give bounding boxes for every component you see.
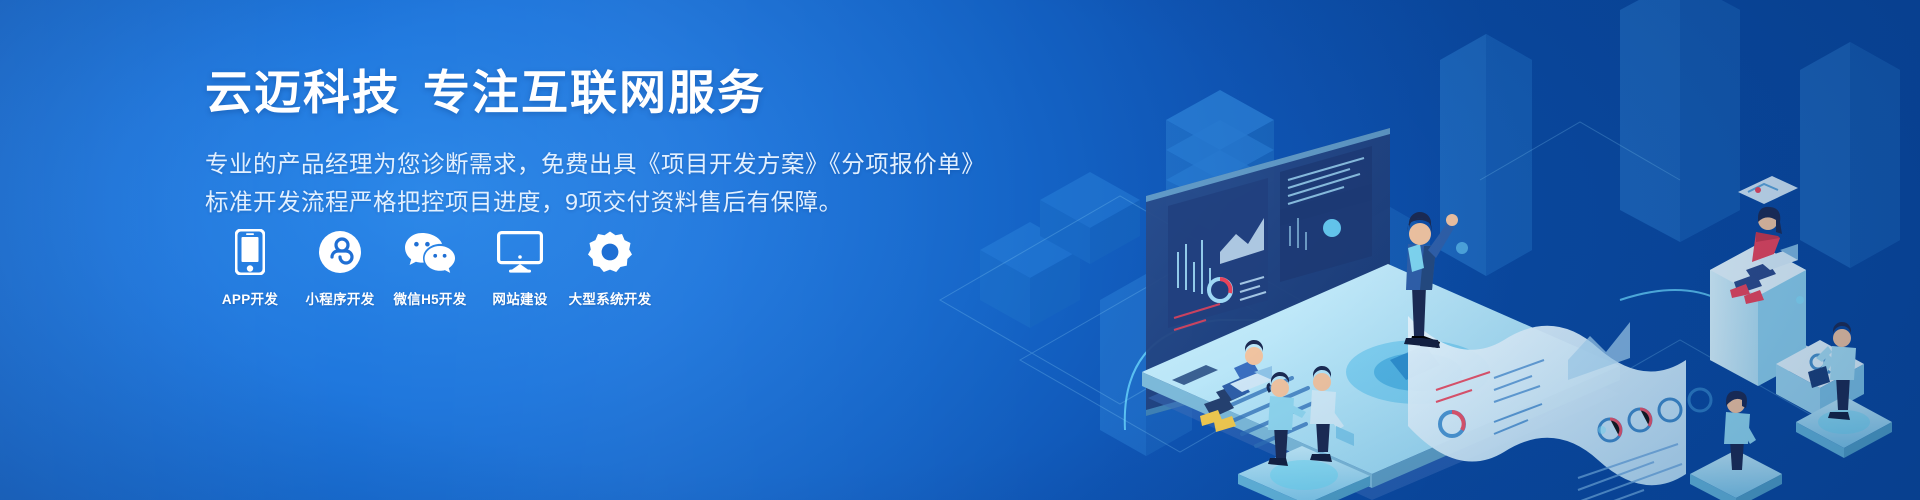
service-label: 微信H5开发 <box>393 288 466 308</box>
hero-copy-block: 云迈科技专注互联网服务 专业的产品经理为您诊断需求，免费出具《项目开发方案》《分… <box>205 66 905 220</box>
service-item-large-system[interactable]: 大型系统开发 <box>565 228 655 308</box>
service-item-miniprogram[interactable]: 小程序开发 <box>295 228 385 308</box>
mini-program-icon <box>318 228 362 276</box>
headline-brand: 云迈科技 <box>205 66 401 119</box>
service-item-app[interactable]: APP开发 <box>205 228 295 308</box>
subtitle-line-1: 专业的产品经理为您诊断需求，免费出具《项目开发方案》《分项报价单》 <box>205 146 905 182</box>
monitor-icon <box>497 228 543 276</box>
page-title: 云迈科技专注互联网服务 <box>205 66 905 120</box>
service-label: 大型系统开发 <box>569 288 652 308</box>
service-item-website[interactable]: 网站建设 <box>475 228 565 308</box>
service-label: 网站建设 <box>492 288 547 308</box>
gear-icon <box>588 228 632 276</box>
hero-banner: 云迈科技专注互联网服务 专业的产品经理为您诊断需求，免费出具《项目开发方案》《分… <box>0 0 1920 500</box>
isometric-tech-illustration <box>920 0 1920 500</box>
wechat-icon <box>404 228 456 276</box>
mobile-phone-icon <box>235 228 265 276</box>
subtitle-line-2: 标准开发流程严格把控项目进度，9项交付资料售后有保障。 <box>205 184 905 220</box>
service-list: APP开发 小程序开发 微信 <box>205 228 655 308</box>
service-label: 小程序开发 <box>306 288 375 308</box>
headline-tagline: 专注互联网服务 <box>423 66 766 119</box>
service-label: APP开发 <box>222 288 278 308</box>
service-item-wechat-h5[interactable]: 微信H5开发 <box>385 228 475 308</box>
